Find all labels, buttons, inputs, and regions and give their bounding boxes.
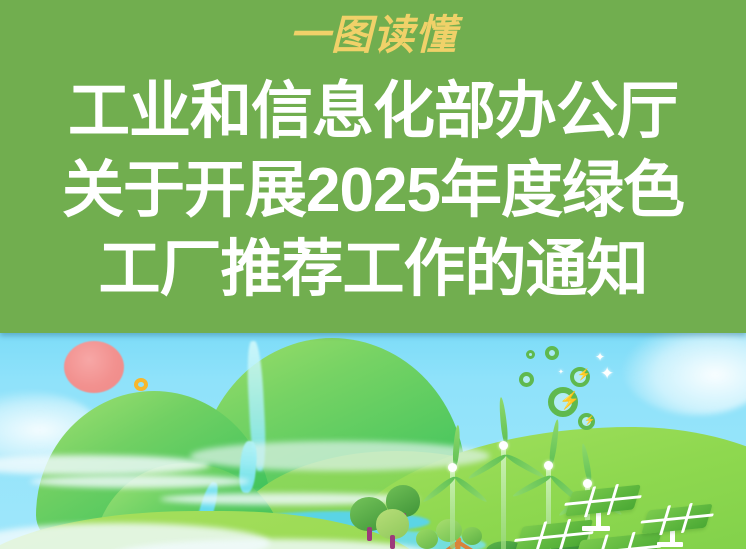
- infographic-poster: ⚡ ⚡ ⚡ ✦ ✦ ✦ 一图读懂 工业和信息化部办公厅 关于开展2025年度绿色…: [0, 0, 746, 549]
- leaf-ball: [416, 529, 438, 549]
- page-title: 工业和信息化部办公厅 关于开展2025年度绿色 工厂推荐工作的通知: [0, 72, 746, 309]
- sparkle-icon: ✦: [595, 351, 605, 363]
- energy-bubble: [519, 372, 534, 387]
- mist-band: [190, 441, 490, 471]
- sparkle-icon: ✦: [600, 365, 614, 382]
- turbine-hub: [583, 479, 592, 488]
- ring-icon: [134, 378, 148, 391]
- tree-trunk: [390, 535, 395, 549]
- turbine-hub: [499, 441, 508, 450]
- turbine-hub: [448, 463, 457, 472]
- title-line-2: 关于开展2025年度绿色: [0, 151, 746, 230]
- solar-gridline: [640, 513, 713, 523]
- mist-band: [30, 475, 250, 488]
- leaf-ball: [436, 519, 462, 542]
- title-banner: 一图读懂 工业和信息化部办公厅 关于开展2025年度绿色 工厂推荐工作的通知: [0, 0, 746, 333]
- kicker-text: 一图读懂: [0, 8, 746, 62]
- lightning-bolt-icon: ⚡: [584, 416, 595, 425]
- energy-bubble: [545, 346, 559, 360]
- leaf-ball: [462, 527, 482, 545]
- lightning-bolt-icon: ⚡: [559, 392, 580, 409]
- title-line-1: 工业和信息化部办公厅: [0, 72, 746, 151]
- solar-post: [582, 526, 610, 531]
- sun-icon: [64, 341, 124, 393]
- solar-gridline: [572, 545, 662, 549]
- tree-trunk: [367, 527, 372, 541]
- turbine-hub: [544, 461, 553, 470]
- turbine-blade: [498, 397, 509, 445]
- bare-branch-tree: [424, 525, 494, 549]
- title-line-3: 工厂推荐工作的通知: [0, 230, 746, 309]
- cloud-icon: [622, 333, 746, 415]
- solar-gridline: [564, 495, 642, 506]
- lightning-bolt-icon: ⚡: [577, 370, 591, 381]
- sparkle-icon: ✦: [558, 369, 564, 376]
- energy-bubble: [526, 350, 535, 359]
- solar-post: [657, 542, 683, 547]
- landscape-scene: ⚡ ⚡ ⚡ ✦ ✦ ✦: [0, 333, 746, 549]
